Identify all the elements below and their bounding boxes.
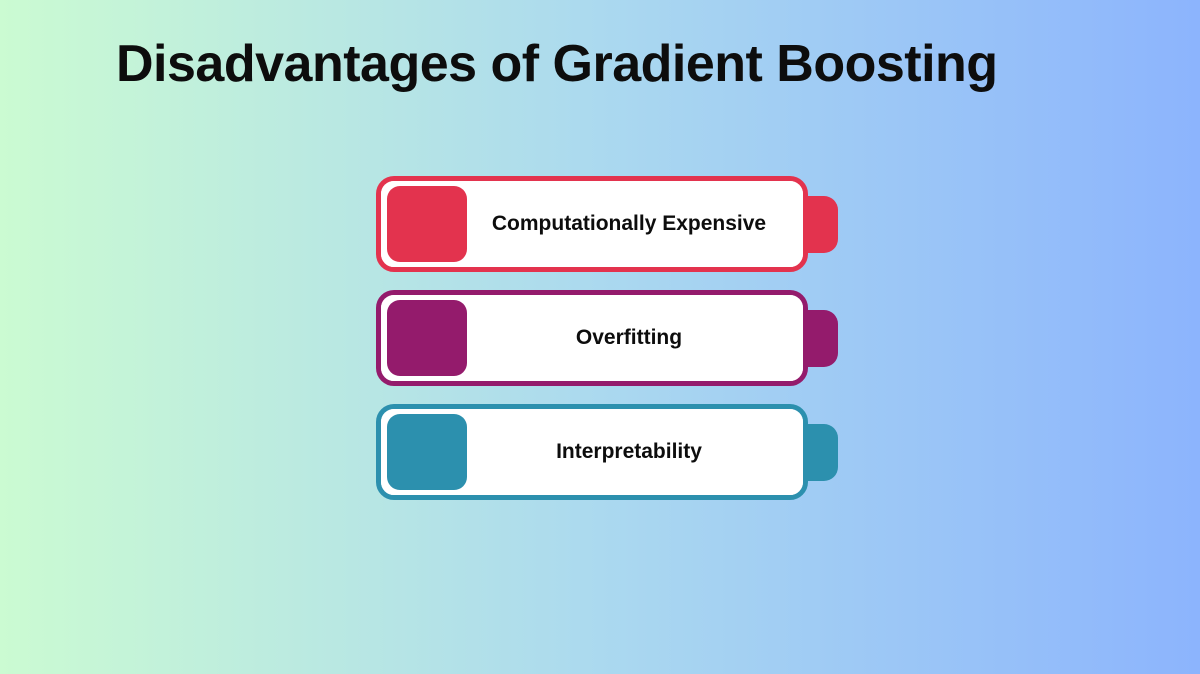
card-label: Overfitting [467, 325, 797, 351]
card-item-interpretability[interactable]: Interpretability [376, 404, 838, 500]
card-inner: Overfitting [381, 295, 803, 381]
card-item-overfitting[interactable]: Overfitting [376, 290, 838, 386]
purple-swatch [387, 300, 467, 376]
card-label: Interpretability [467, 439, 797, 465]
card-label: Computationally Expensive [467, 211, 797, 237]
infographic-canvas: Disadvantages of Gradient Boosting Compu… [0, 0, 1200, 674]
card-inner: Interpretability [381, 409, 803, 495]
red-swatch [387, 186, 467, 262]
card-inner: Computationally Expensive [381, 181, 803, 267]
card-shell[interactable]: Interpretability [376, 404, 808, 500]
card-stack: Computationally Expensive Overfitting In… [376, 176, 838, 500]
card-item-computationally-expensive[interactable]: Computationally Expensive [376, 176, 838, 272]
card-shell[interactable]: Overfitting [376, 290, 808, 386]
page-title: Disadvantages of Gradient Boosting [116, 34, 1084, 94]
card-shell[interactable]: Computationally Expensive [376, 176, 808, 272]
teal-swatch [387, 414, 467, 490]
